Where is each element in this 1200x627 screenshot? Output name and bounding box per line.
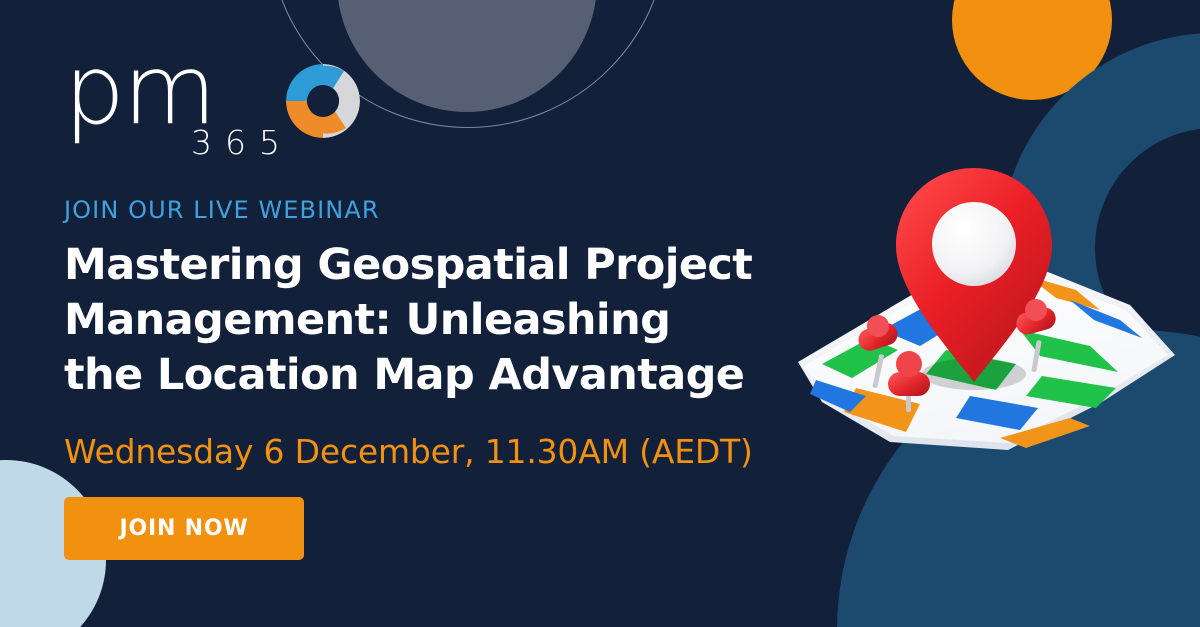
join-now-button[interactable]: JOIN NOW	[64, 497, 304, 560]
eyebrow-text: JOIN OUR LIVE WEBINAR	[64, 196, 764, 224]
content-column: pm	[64, 52, 764, 560]
logo-swirl-icon	[286, 64, 360, 138]
logo-365-text: 365	[191, 126, 293, 159]
webinar-datetime: Wednesday 6 December, 11.30AM (AEDT)	[64, 432, 764, 471]
location-map-illustration	[770, 150, 1200, 480]
webinar-promo-banner: pm	[0, 0, 1200, 627]
page-title: Mastering Geospatial Project Management:…	[64, 238, 754, 403]
pmo365-logo: pm	[64, 52, 764, 170]
